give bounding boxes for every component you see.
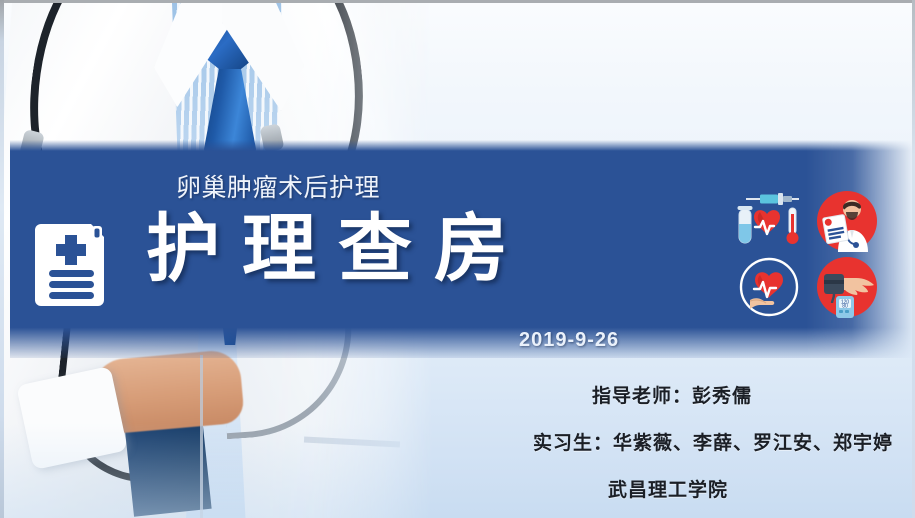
blood-pressure-icon: 120 80 <box>816 256 878 318</box>
credit-students: 实习生：华紫薇、李薛、罗江安、郑宇婷 <box>533 428 893 455</box>
medical-record-icon <box>35 218 110 306</box>
credit-institution: 武昌理工学院 <box>608 475 728 502</box>
credit-instructor: 指导老师：彭秀儒 <box>592 381 752 408</box>
svg-text:80: 80 <box>842 304 848 310</box>
slide-main-title: 护理查房 <box>146 212 530 286</box>
slide-subtitle: 卵巢肿瘤术后护理 <box>176 168 380 204</box>
slide-date: 2019-9-26 <box>519 329 619 352</box>
photo-bottom-fade <box>4 423 434 518</box>
vitals-icon <box>736 190 804 248</box>
slide-frame-top <box>0 0 915 3</box>
slide-frame-left <box>0 0 4 518</box>
medical-icon-cluster: 120 80 <box>736 190 886 318</box>
hand-heart-icon <box>738 256 800 318</box>
presentation-slide: 卵巢肿瘤术后护理 护理查房 2019-9-26 <box>0 0 915 518</box>
doctor-chart-icon <box>816 190 878 252</box>
